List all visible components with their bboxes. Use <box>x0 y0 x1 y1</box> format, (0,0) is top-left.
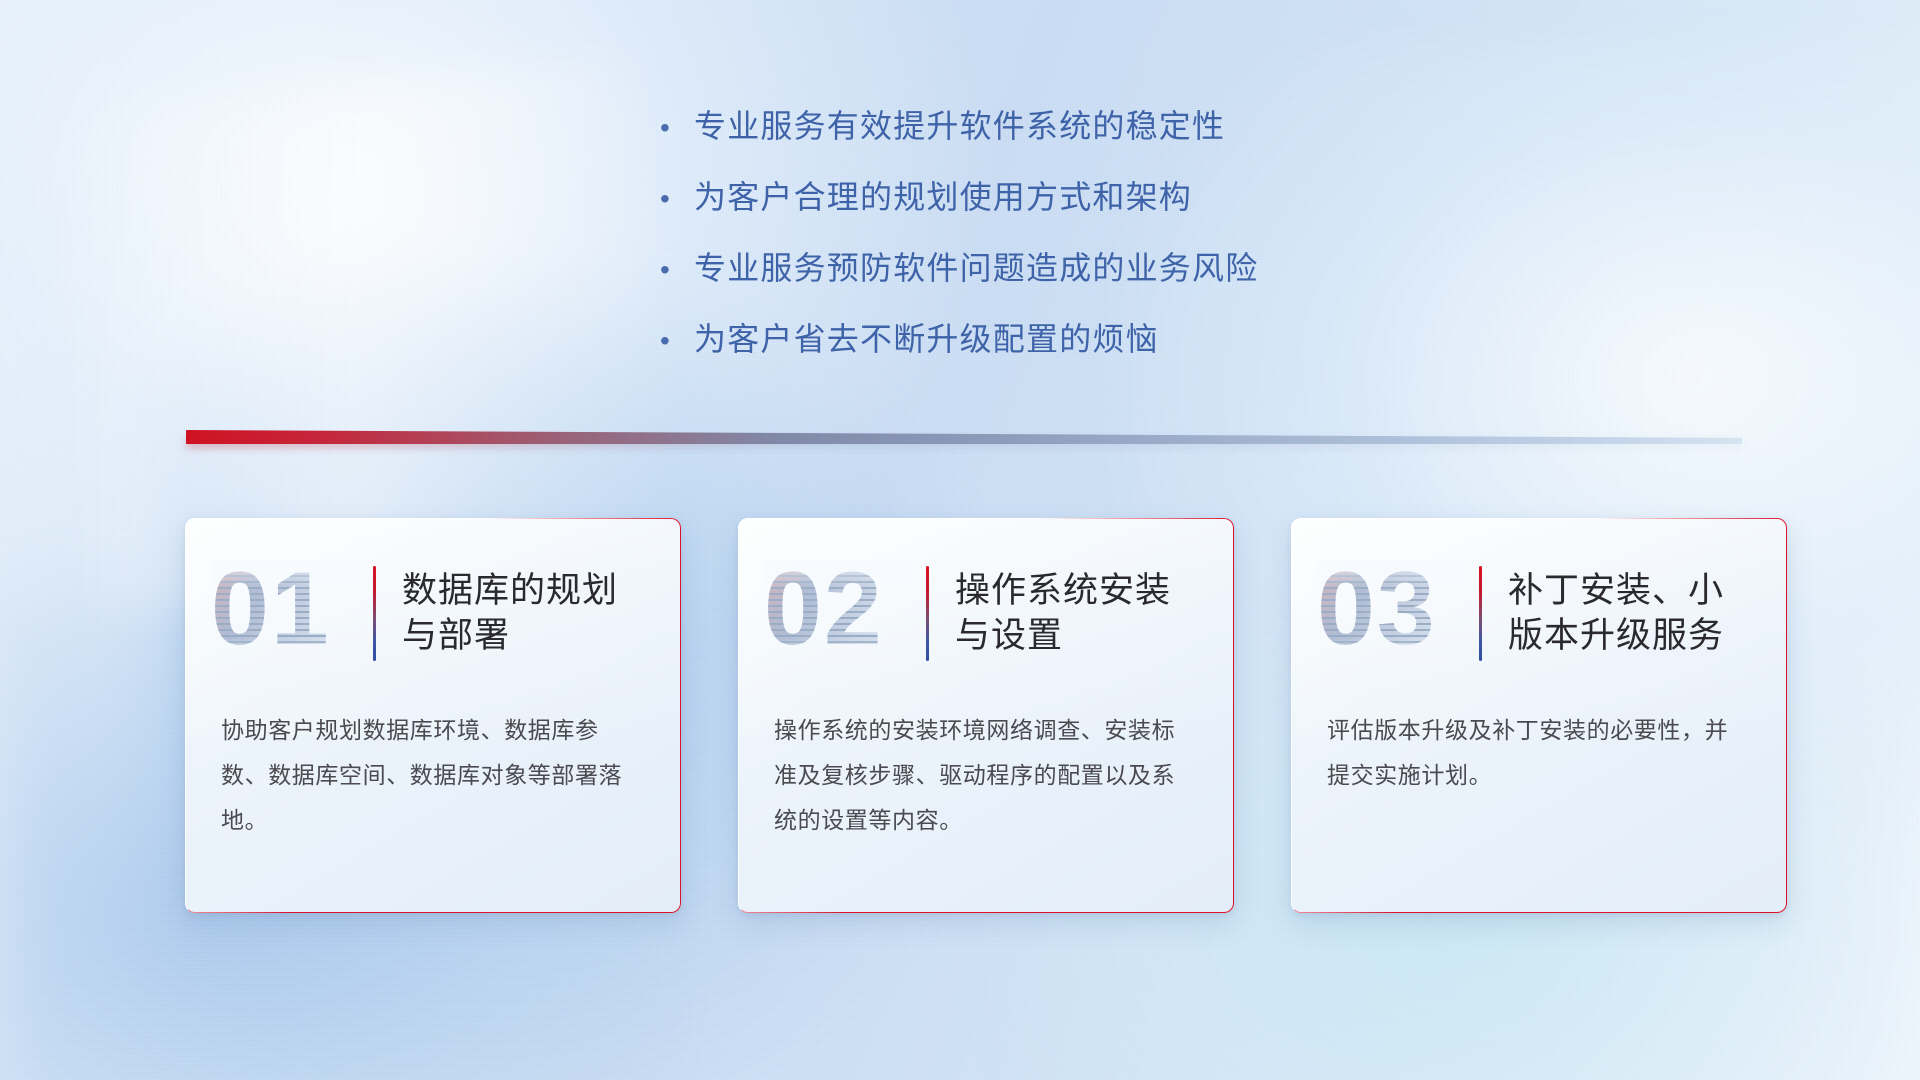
card-number-wrap: 02 <box>764 561 912 665</box>
section-divider <box>186 430 1742 444</box>
list-item: • 专业服务有效提升软件系统的稳定性 <box>660 106 1258 146</box>
card-number: 02 <box>764 557 912 661</box>
card-title: 操作系统安装 与设置 <box>955 568 1171 659</box>
card-header: 01 数据库的规划 与部署 <box>185 518 681 708</box>
card-number-wrap: 01 <box>211 561 359 665</box>
card-title: 数据库的规划 与部署 <box>402 568 618 659</box>
bullet-dot-icon: • <box>660 185 694 213</box>
service-card[interactable]: 01 数据库的规划 与部署 协助客户规划数据库环境、数据库参数、数据库空间、数据… <box>185 518 681 913</box>
card-title: 补丁安装、小 版本升级服务 <box>1508 568 1724 659</box>
bullet-text: 专业服务有效提升软件系统的稳定性 <box>694 106 1225 146</box>
bullet-dot-icon: • <box>660 256 694 284</box>
bullet-text: 专业服务预防软件问题造成的业务风险 <box>694 248 1258 288</box>
list-item: • 专业服务预防软件问题造成的业务风险 <box>660 248 1258 288</box>
list-item: • 为客户合理的规划使用方式和架构 <box>660 177 1258 217</box>
bullet-text: 为客户省去不断升级配置的烦恼 <box>694 319 1159 359</box>
bullet-dot-icon: • <box>660 114 694 142</box>
card-divider-line <box>1479 566 1482 661</box>
bullet-text: 为客户合理的规划使用方式和架构 <box>694 177 1192 217</box>
card-divider-line <box>926 566 929 661</box>
card-number-wrap: 03 <box>1317 561 1465 665</box>
card-description: 评估版本升级及补丁安装的必要性，并提交实施计划。 <box>1291 708 1787 798</box>
card-header: 03 补丁安装、小 版本升级服务 <box>1291 518 1787 708</box>
card-number: 01 <box>211 557 359 661</box>
service-card[interactable]: 02 操作系统安装 与设置 操作系统的安装环境网络调查、安装标准及复核步骤、驱动… <box>738 518 1234 913</box>
list-item: • 为客户省去不断升级配置的烦恼 <box>660 319 1258 359</box>
divider-bar <box>186 430 1742 444</box>
card-divider-line <box>373 566 376 661</box>
service-card[interactable]: 03 补丁安装、小 版本升级服务 评估版本升级及补丁安装的必要性，并提交实施计划… <box>1291 518 1787 913</box>
card-number: 03 <box>1317 557 1465 661</box>
service-card-list: 01 数据库的规划 与部署 协助客户规划数据库环境、数据库参数、数据库空间、数据… <box>185 518 1787 913</box>
card-header: 02 操作系统安装 与设置 <box>738 518 1234 708</box>
bullet-dot-icon: • <box>660 327 694 355</box>
card-description: 协助客户规划数据库环境、数据库参数、数据库空间、数据库对象等部署落地。 <box>185 708 681 843</box>
card-description: 操作系统的安装环境网络调查、安装标准及复核步骤、驱动程序的配置以及系统的设置等内… <box>738 708 1234 843</box>
benefits-bullet-list: • 专业服务有效提升软件系统的稳定性 • 为客户合理的规划使用方式和架构 • 专… <box>660 106 1258 390</box>
